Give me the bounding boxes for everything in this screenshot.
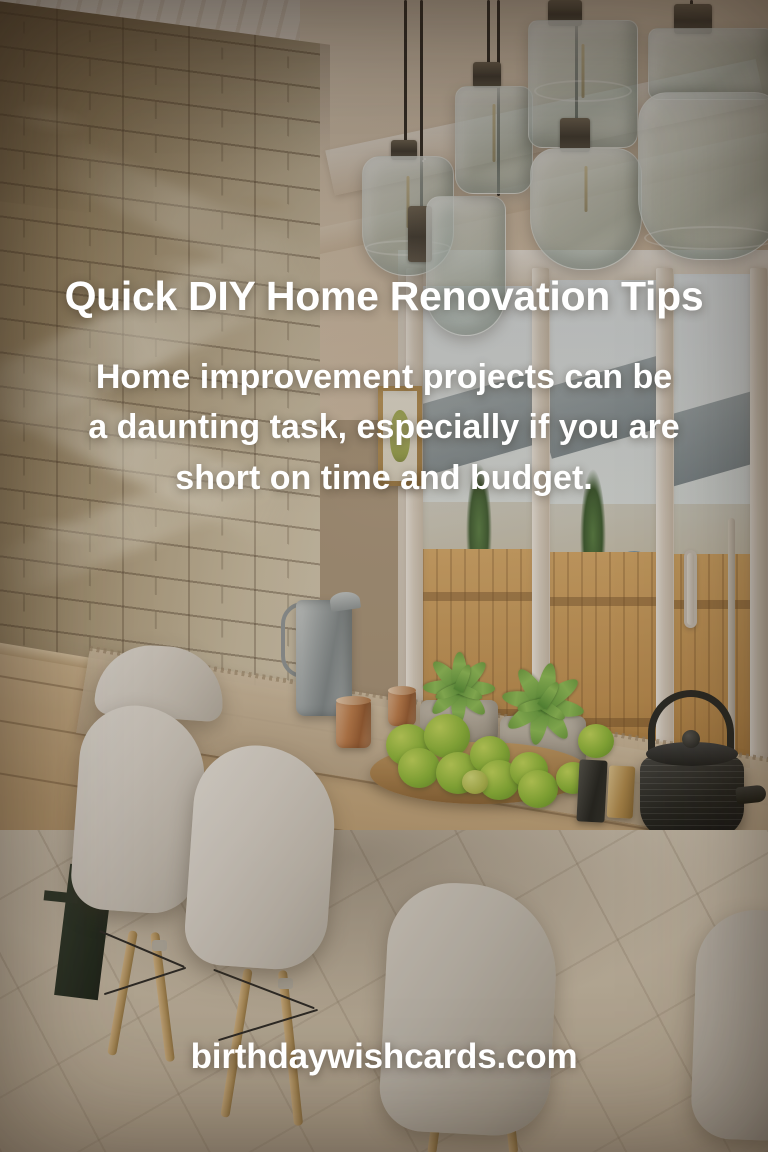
- subtitle-text: Home improvement projects can be a daunt…: [84, 352, 684, 503]
- renovation-tips-card: Quick DIY Home Renovation Tips Home impr…: [0, 0, 768, 1152]
- footer-website-url: birthdaywishcards.com: [0, 1037, 768, 1077]
- text-overlay: Quick DIY Home Renovation Tips Home impr…: [0, 0, 768, 1152]
- page-title: Quick DIY Home Renovation Tips: [0, 274, 768, 318]
